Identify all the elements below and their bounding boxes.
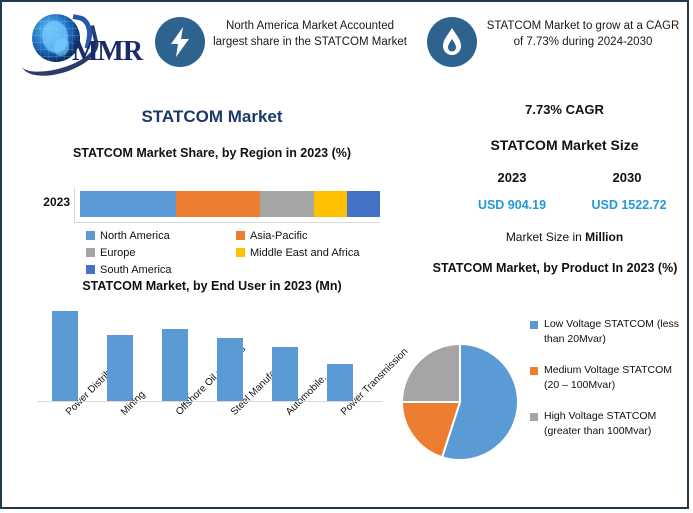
legend-item: High Voltage STATCOM (greater than 100Mv… <box>530 409 688 439</box>
flame-icon <box>427 17 477 67</box>
region-chart-title: STATCOM Market Share, by Region in 2023 … <box>57 144 367 162</box>
market-size-unit: Market Size in Million <box>442 230 687 244</box>
product-chart-legend: Low Voltage STATCOM (less than 20Mvar)Me… <box>530 317 688 455</box>
legend-label: Europe <box>100 247 135 259</box>
legend-item: Asia-Pacific <box>236 227 386 244</box>
legend-label: Low Voltage STATCOM (less than 20Mvar) <box>544 317 688 347</box>
legend-item: Middle East and Africa <box>236 244 386 261</box>
legend-swatch-icon <box>530 367 538 375</box>
lightning-bolt-icon <box>155 17 205 67</box>
legend-label: Middle East and Africa <box>250 247 359 259</box>
market-size-title: STATCOM Market Size <box>442 137 687 153</box>
region-bar-segment <box>176 191 260 217</box>
mmr-logo: MMR <box>14 8 146 70</box>
market-size-unit-value: Million <box>585 230 623 244</box>
enduser-bar <box>272 347 298 402</box>
legend-swatch-icon <box>236 248 245 257</box>
region-chart-axis <box>74 187 75 222</box>
page-title: STATCOM Market <box>62 107 362 127</box>
legend-swatch-icon <box>86 265 95 274</box>
legend-label: Asia-Pacific <box>250 230 307 242</box>
legend-label: South America <box>100 264 172 276</box>
market-size-forecast-year: 2030 <box>577 170 677 185</box>
enduser-chart-title: STATCOM Market, by End User in 2023 (Mn) <box>42 279 382 293</box>
enduser-bar <box>162 329 188 402</box>
enduser-bar <box>52 311 78 402</box>
legend-item: Medium Voltage STATCOM (20 – 100Mvar) <box>530 363 688 393</box>
enduser-bar <box>327 364 353 402</box>
enduser-chart-baseline <box>37 401 382 402</box>
legend-label: Medium Voltage STATCOM (20 – 100Mvar) <box>544 363 688 393</box>
region-stacked-bar <box>80 191 380 217</box>
brand-name: MMR <box>72 36 142 68</box>
legend-swatch-icon <box>530 413 538 421</box>
market-size-base-year: 2023 <box>462 170 562 185</box>
legend-swatch-icon <box>236 231 245 240</box>
legend-label: High Voltage STATCOM (greater than 100Mv… <box>544 409 688 439</box>
market-size-unit-prefix: Market Size in <box>506 230 585 244</box>
legend-item: Low Voltage STATCOM (less than 20Mvar) <box>530 317 688 347</box>
enduser-bar-chart: Power DistributionMiningOffshore Oil and… <box>54 302 384 402</box>
cagr-value: 7.73% CAGR <box>442 102 687 117</box>
legend-item: Europe <box>86 244 236 261</box>
region-bar-segment <box>260 191 314 217</box>
market-size-forecast-value: USD 1522.72 <box>574 198 684 212</box>
header-highlight-left: North America Market Accounted largest s… <box>212 18 408 50</box>
header-banner: MMR North America Market Accounted large… <box>2 2 687 82</box>
legend-item: North America <box>86 227 236 244</box>
market-size-base-value: USD 904.19 <box>457 198 567 212</box>
region-bar-segment <box>314 191 347 217</box>
enduser-bar <box>107 335 133 402</box>
legend-swatch-icon <box>86 248 95 257</box>
legend-swatch-icon <box>530 321 538 329</box>
legend-label: North America <box>100 230 170 242</box>
region-bar-segment <box>347 191 380 217</box>
header-highlight-right: STATCOM Market to grow at a CAGR of 7.73… <box>485 18 681 50</box>
region-chart-legend: North AmericaAsia-PacificEuropeMiddle Ea… <box>86 227 386 278</box>
product-chart-title: STATCOM Market, by Product In 2023 (%) <box>430 259 680 277</box>
pie-slice <box>402 344 460 402</box>
region-bar-segment <box>80 191 176 217</box>
product-pie-chart <box>402 344 518 460</box>
region-chart-category-label: 2023 <box>22 195 70 209</box>
infographic-frame: MMR North America Market Accounted large… <box>0 0 689 509</box>
enduser-bar <box>217 338 243 402</box>
legend-swatch-icon <box>86 231 95 240</box>
region-chart-baseline <box>74 222 380 223</box>
legend-item: South America <box>86 261 236 278</box>
